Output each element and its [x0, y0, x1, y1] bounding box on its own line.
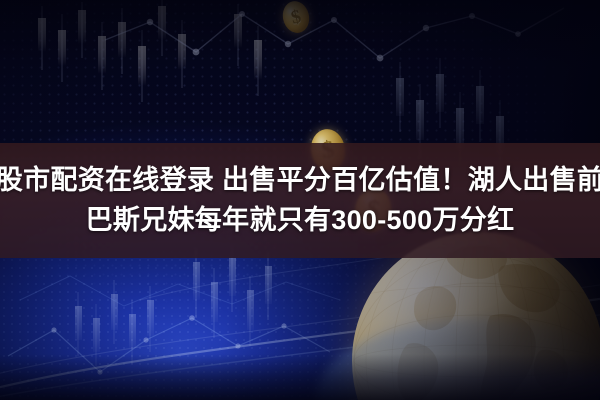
headline-line-2: 巴斯兄妹每年就只有300-500万分红 — [86, 202, 515, 239]
banner-image: $ $ $ 股市配资在线登录 出售平分百亿估值！湖人出售前 巴斯兄妹每年就只有3… — [0, 0, 600, 400]
headline-text-block: 股市配资在线登录 出售平分百亿估值！湖人出售前 巴斯兄妹每年就只有300-500… — [0, 143, 600, 258]
headline-line-1: 股市配资在线登录 出售平分百亿估值！湖人出售前 — [0, 162, 600, 199]
